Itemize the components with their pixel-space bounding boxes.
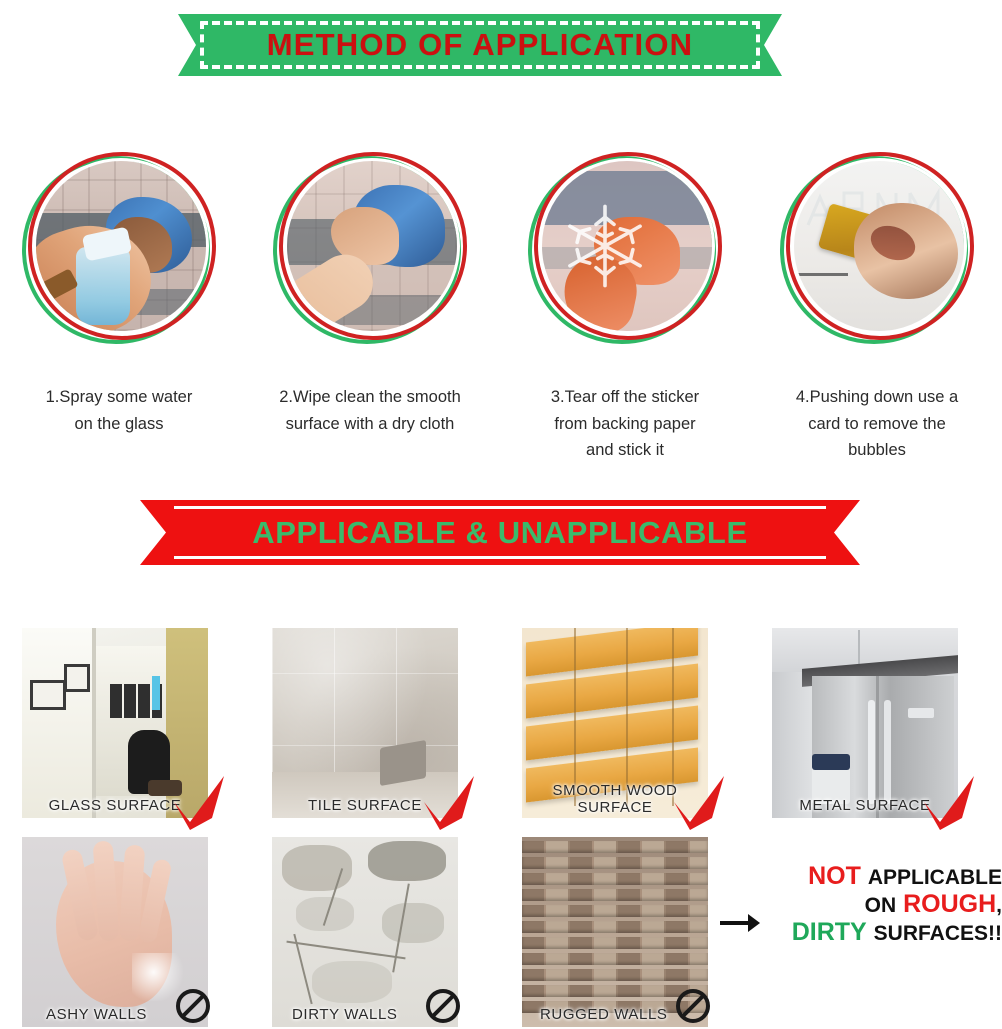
surface-label-ashy-walls: ASHY WALLS bbox=[22, 1006, 196, 1023]
callout-line-3: DIRTY SURFACES!! bbox=[748, 918, 1002, 946]
not-applicable-callout: NOT APPLICABLE ON ROUGH, DIRTY SURFACES!… bbox=[700, 862, 1002, 992]
prohibited-icon bbox=[674, 987, 712, 1025]
step-4-circle bbox=[778, 152, 976, 350]
step-4-photo bbox=[794, 161, 964, 331]
callout-dirty: DIRTY bbox=[792, 918, 867, 946]
application-steps: 1.Spray some water on the glass 2.Wipe c… bbox=[0, 152, 1002, 482]
step-1-caption: 1.Spray some water on the glass bbox=[0, 384, 244, 437]
step-1-photo bbox=[36, 161, 206, 331]
surface-card-metal: METAL SURFACE bbox=[772, 628, 958, 818]
callout-on: ON bbox=[865, 894, 897, 917]
check-icon bbox=[416, 772, 480, 834]
callout-rough: ROUGH bbox=[903, 890, 996, 918]
surface-card-smooth-wood: SMOOTH WOOD SURFACE bbox=[522, 628, 708, 818]
step-2-photo bbox=[287, 161, 457, 331]
check-icon bbox=[666, 772, 730, 834]
snowflake-sticker-icon bbox=[560, 201, 650, 291]
step-4: 4.Pushing down use a card to remove the … bbox=[752, 152, 1002, 482]
check-icon bbox=[916, 772, 980, 834]
step-1-circle bbox=[20, 152, 218, 350]
prohibited-icon bbox=[424, 987, 462, 1025]
applicable-banner-title: APPLICABLE & UNAPPLICABLE bbox=[252, 515, 748, 551]
prohibited-icon bbox=[174, 987, 212, 1025]
step-2: 2.Wipe clean the smooth surface with a d… bbox=[245, 152, 495, 482]
step-1: 1.Spray some water on the glass bbox=[0, 152, 244, 482]
callout-line-1: NOT APPLICABLE bbox=[748, 862, 1002, 890]
product-infographic-page: METHOD OF APPLICATION 1.Spray some water… bbox=[0, 0, 1002, 1029]
callout-comma: , bbox=[996, 894, 1002, 917]
surface-label-dirty-walls: DIRTY WALLS bbox=[272, 1006, 442, 1023]
step-3: 3.Tear off the sticker from backing pape… bbox=[500, 152, 750, 482]
callout-applicable: APPLICABLE bbox=[868, 866, 1002, 889]
method-of-application-banner: METHOD OF APPLICATION bbox=[178, 14, 782, 76]
step-2-circle bbox=[271, 152, 469, 350]
surface-card-rugged-walls: RUGGED WALLS bbox=[522, 837, 708, 1027]
step-3-circle bbox=[526, 152, 724, 350]
step-2-caption: 2.Wipe clean the smooth surface with a d… bbox=[245, 384, 495, 437]
callout-not: NOT bbox=[808, 862, 861, 890]
surface-card-dirty-walls: DIRTY WALLS bbox=[272, 837, 458, 1027]
callout-surfaces: SURFACES!! bbox=[874, 922, 1002, 945]
step-4-caption: 4.Pushing down use a card to remove the … bbox=[752, 384, 1002, 464]
surface-card-tile: TILE SURFACE bbox=[272, 628, 458, 818]
surface-label-rugged-walls: RUGGED WALLS bbox=[522, 1006, 692, 1023]
step-3-caption: 3.Tear off the sticker from backing pape… bbox=[500, 384, 750, 464]
check-icon bbox=[166, 772, 230, 834]
applicable-unapplicable-banner: APPLICABLE & UNAPPLICABLE bbox=[140, 500, 860, 565]
method-banner-title: METHOD OF APPLICATION bbox=[267, 27, 693, 63]
step-3-photo bbox=[542, 161, 712, 331]
callout-line-2: ON ROUGH, bbox=[748, 890, 1002, 918]
callout-text-block: NOT APPLICABLE ON ROUGH, DIRTY SURFACES!… bbox=[748, 862, 1002, 946]
surface-card-glass: GLASS SURFACE bbox=[22, 628, 208, 818]
surface-card-ashy-walls: ASHY WALLS bbox=[22, 837, 208, 1027]
